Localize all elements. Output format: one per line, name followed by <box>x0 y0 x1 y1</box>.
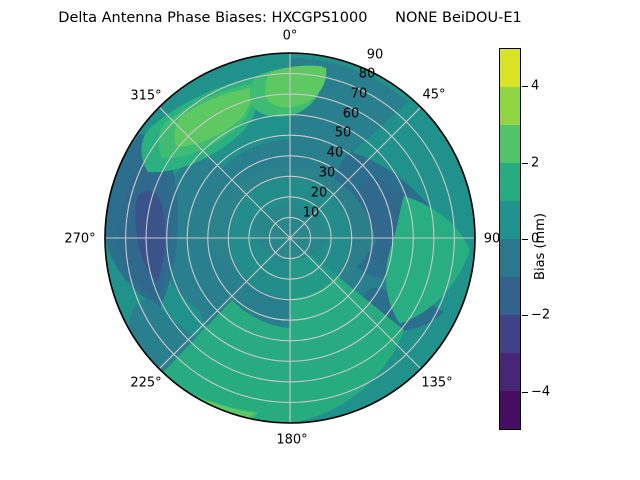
angular-tick-225[interactable]: 225° <box>130 376 161 391</box>
colorbar-tick-label: −4 <box>531 384 550 399</box>
angular-tick-270[interactable]: 270° <box>64 232 95 247</box>
colorbar-tick-mark <box>522 315 528 316</box>
colorbar-tick-label: 4 <box>531 79 539 94</box>
angular-tick-45[interactable]: 45° <box>422 88 445 103</box>
colorbar[interactable] <box>499 48 521 430</box>
radial-tick-20[interactable]: 20 <box>311 186 328 201</box>
colorbar-tick-label: −2 <box>531 308 550 323</box>
angular-tick-315[interactable]: 315° <box>130 89 161 104</box>
colorbar-axis-label: Bias (mm) <box>533 213 548 280</box>
colorbar-band <box>500 277 520 315</box>
radial-tick-50[interactable]: 50 <box>335 126 352 141</box>
angular-tick-180[interactable]: 180° <box>276 433 307 448</box>
colorbar-tick-mark <box>522 239 528 240</box>
colorbar-band <box>500 239 520 277</box>
radial-tick-30[interactable]: 30 <box>319 166 336 181</box>
angular-tick-90[interactable]: 90 <box>484 232 501 247</box>
radial-tick-70[interactable]: 70 <box>351 87 368 102</box>
colorbar-band <box>500 125 520 163</box>
colorbar-band <box>500 315 520 353</box>
angular-gridlines <box>105 53 475 423</box>
colorbar-tick-label: 0 <box>531 232 539 247</box>
colorbar-band <box>500 201 520 239</box>
colorbar-band <box>500 353 520 391</box>
colorbar-band <box>500 391 520 429</box>
colorbar-tick-mark <box>522 86 528 87</box>
radial-tick-90[interactable]: 90 <box>367 48 384 63</box>
angular-tick-0[interactable]: 0° <box>283 29 298 44</box>
angular-tick-135[interactable]: 135° <box>421 376 452 391</box>
radial-tick-10[interactable]: 10 <box>303 206 320 221</box>
radial-tick-60[interactable]: 60 <box>343 107 360 122</box>
colorbar-tick-mark <box>522 392 528 393</box>
colorbar-band <box>500 87 520 125</box>
colorbar-band <box>500 163 520 201</box>
radial-tick-40[interactable]: 40 <box>327 146 344 161</box>
colorbar-tick-label: 2 <box>531 155 539 170</box>
colorbar-tick-mark <box>522 163 528 164</box>
figure-canvas: Delta Antenna Phase Biases: HXCGPS1000 N… <box>0 0 640 480</box>
radial-tick-80[interactable]: 80 <box>359 67 376 82</box>
colorbar-band <box>500 49 520 87</box>
